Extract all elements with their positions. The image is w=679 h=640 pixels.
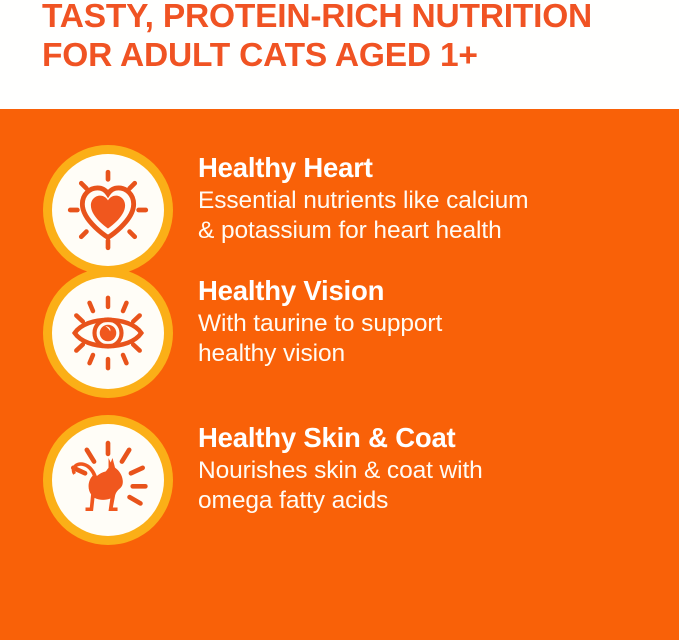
benefit-title: Healthy Vision: [198, 274, 668, 307]
nutrition-benefits-panel: TASTY, PROTEIN-RICH NUTRITION FOR ADULT …: [0, 0, 679, 640]
benefit-title: Healthy Skin & Coat: [198, 421, 668, 454]
benefit-description: Nourishes skin & coat with omega fatty a…: [198, 456, 668, 516]
benefit-description: With taurine to support healthy vision: [198, 309, 668, 369]
icon-badge-healthy-skin-coat: [43, 415, 173, 545]
header-band: TASTY, PROTEIN-RICH NUTRITION FOR ADULT …: [0, 0, 679, 109]
cat-silhouette: [72, 458, 123, 511]
radiant-sitting-cat-icon: [63, 435, 153, 525]
benefit-description: Essential nutrients like calcium & potas…: [198, 186, 668, 246]
benefit-text-healthy-vision: Healthy Vision With taurine to support h…: [198, 274, 668, 369]
benefit-text-healthy-heart: Healthy Heart Essential nutrients like c…: [198, 151, 668, 246]
benefit-title: Healthy Heart: [198, 151, 668, 184]
radiant-eye-icon: [63, 288, 153, 378]
benefits-section: Healthy Heart Essential nutrients like c…: [0, 109, 679, 640]
icon-badge-healthy-vision: [43, 268, 173, 398]
heart-fill: [91, 196, 125, 229]
page-title: TASTY, PROTEIN-RICH NUTRITION FOR ADULT …: [42, 0, 662, 75]
benefit-text-healthy-skin-coat: Healthy Skin & Coat Nourishes skin & coa…: [198, 421, 668, 516]
icon-badge-healthy-heart: [43, 145, 173, 275]
radiant-heart-icon: [63, 165, 153, 255]
